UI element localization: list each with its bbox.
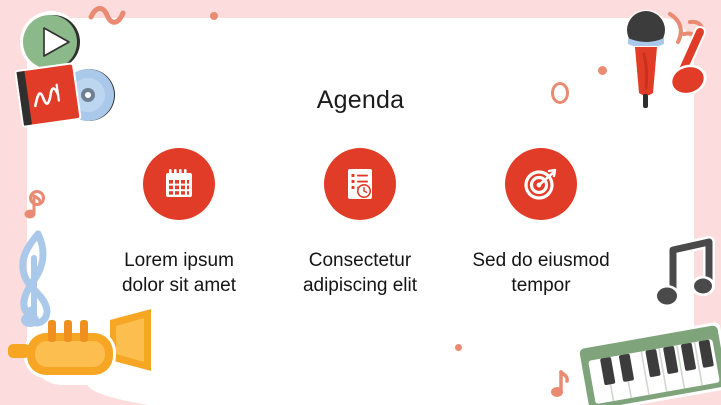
agenda-icon-circle-1[interactable]	[143, 148, 215, 220]
slide-canvas: Agenda	[0, 0, 721, 405]
agenda-label-1: Lorem ipsum dolor sit amet	[122, 248, 236, 299]
agenda-item-1[interactable]: Lorem ipsum dolor sit amet	[95, 148, 263, 299]
decor-ring	[29, 190, 45, 206]
card-corner-blob-top	[122, 32, 602, 92]
page-title: Agenda	[0, 86, 721, 115]
checklist-clock-icon	[344, 167, 376, 201]
agenda-label-3: Sed do eiusmod tempor	[472, 248, 609, 299]
decor-dot	[143, 345, 150, 352]
calendar-icon	[162, 167, 196, 201]
agenda-label-2: Consectetur adipiscing elit	[303, 248, 417, 299]
agenda-item-3[interactable]: Sed do eiusmod tempor	[457, 148, 625, 299]
agenda-icon-circle-3[interactable]	[505, 148, 577, 220]
agenda-columns: Lorem ipsum dolor sit amet	[95, 148, 625, 299]
target-arrow-icon	[524, 167, 558, 201]
agenda-item-2[interactable]: Consectetur adipiscing elit	[276, 148, 444, 299]
decor-dot	[598, 66, 607, 75]
decor-dot	[455, 344, 462, 351]
agenda-icon-circle-2[interactable]	[324, 148, 396, 220]
decor-dot	[210, 12, 218, 20]
card-corner-blob-bottom	[87, 348, 647, 405]
